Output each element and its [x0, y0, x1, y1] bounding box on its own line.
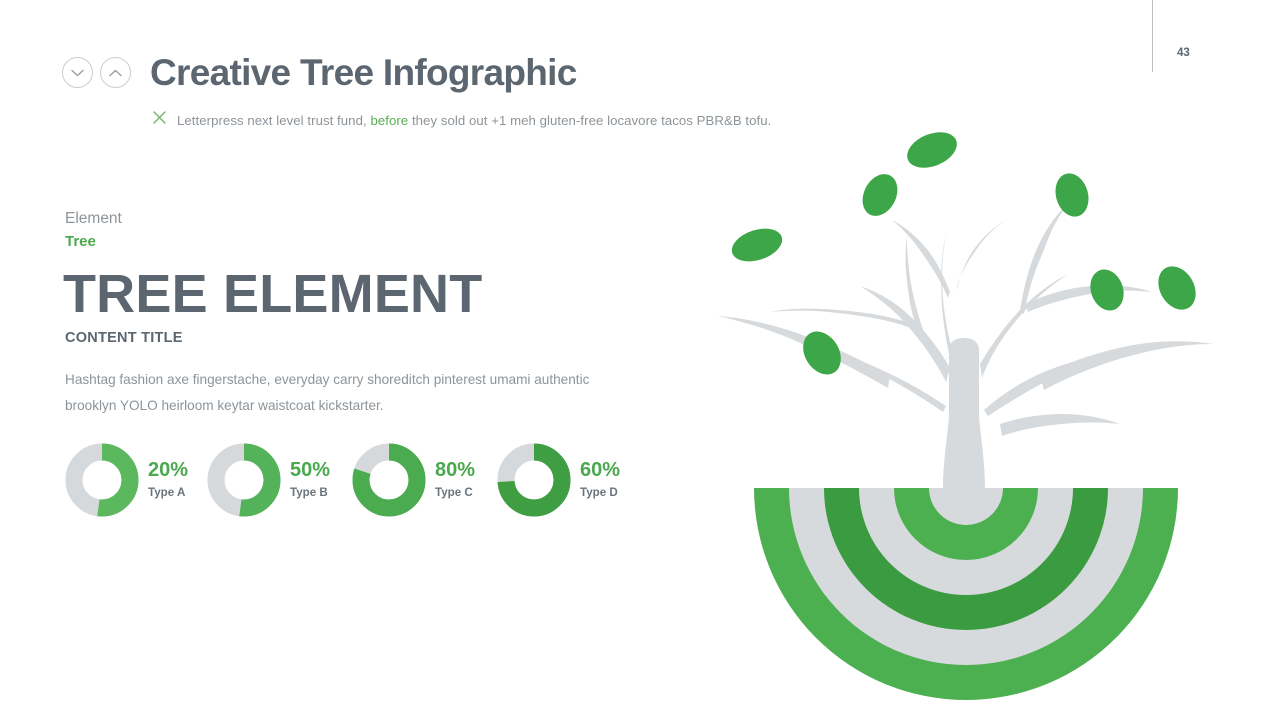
donut-percent-c: 80% [435, 460, 475, 482]
nav-previous-button[interactable] [62, 57, 93, 88]
subtitle-highlight: before [370, 113, 408, 128]
donut-chart-type-b[interactable]: 50% Type B [207, 443, 352, 517]
donut-percent-d: 60% [580, 460, 620, 482]
donut-ring-c [352, 443, 426, 517]
donut-chart-type-a[interactable]: 20% Type A [65, 443, 207, 517]
leaf-icon [856, 168, 904, 222]
donut-ring-d [497, 443, 571, 517]
donut-ring-a [65, 443, 139, 517]
donut-name-b: Type B [290, 487, 330, 500]
page-title: Creative Tree Infographic [150, 50, 577, 96]
donut-chart-type-d[interactable]: 60% Type D [497, 443, 620, 517]
donut-percent-a: 20% [148, 460, 188, 482]
leaf-icon [1085, 265, 1129, 315]
x-icon [152, 110, 167, 130]
donut-labels-b: 50% Type B [290, 460, 330, 499]
donut-labels-c: 80% Type C [435, 460, 475, 499]
nav-next-button[interactable] [100, 57, 131, 88]
donut-ring-b [207, 443, 281, 517]
donut-chart-type-c[interactable]: 80% Type C [352, 443, 497, 517]
chevron-down-icon [70, 68, 85, 78]
donut-name-a: Type A [148, 487, 188, 500]
leaf-icon [902, 125, 962, 174]
tree-illustration [700, 110, 1280, 720]
subtitle-row: Letterpress next level trust fund, befor… [152, 110, 771, 130]
eyebrow-strong-label: Tree [65, 231, 96, 253]
page-number-divider [1152, 0, 1153, 72]
leaf-icon [728, 223, 787, 268]
donut-name-d: Type D [580, 487, 620, 500]
content-subheading: CONTENT TITLE [65, 330, 183, 346]
donut-labels-d: 60% Type D [580, 460, 620, 499]
slide-nav-controls [62, 57, 131, 88]
body-paragraph: Hashtag fashion axe fingerstache, everyd… [65, 367, 625, 419]
donut-chart-group: 20% Type A 50% Type B 80% Type C [65, 443, 620, 517]
subtitle-before: Letterpress next level trust fund, [177, 113, 367, 128]
leaf-icon [1151, 260, 1203, 317]
section-heading: TREE ELEMENT [63, 262, 482, 326]
root-rings [754, 488, 1178, 700]
chevron-up-icon [108, 68, 123, 78]
tree-branches [718, 202, 1214, 500]
slide-canvas: Creative Tree Infographic Letterpress ne… [0, 0, 1280, 720]
donut-name-c: Type C [435, 487, 475, 500]
subtitle-text: Letterpress next level trust fund, befor… [177, 113, 771, 128]
page-number: 43 [1177, 47, 1190, 59]
eyebrow-label: Element [65, 208, 122, 230]
donut-labels-a: 20% Type A [148, 460, 188, 499]
donut-percent-b: 50% [290, 460, 330, 482]
leaf-icon [1051, 169, 1094, 220]
